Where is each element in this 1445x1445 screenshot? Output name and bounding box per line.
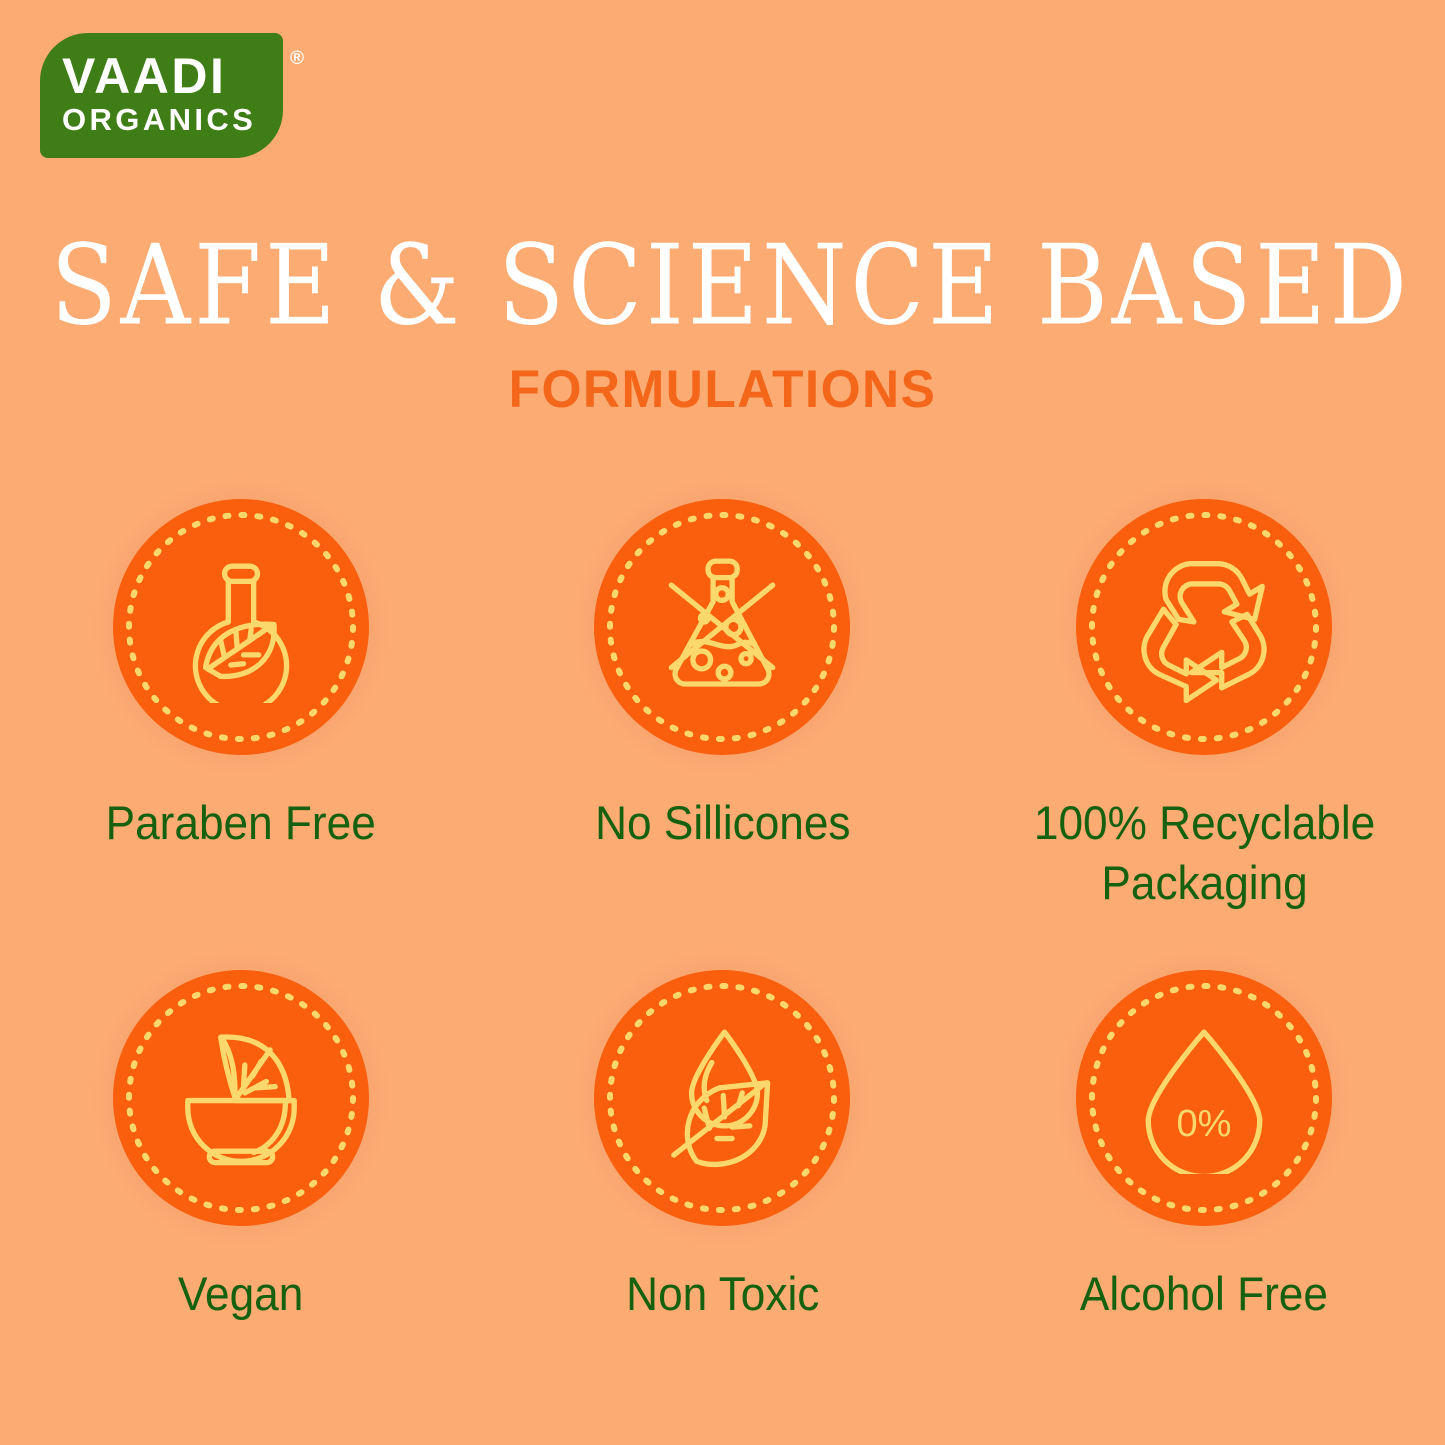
badge-disc [113, 499, 369, 755]
feature-badge-grid: Paraben Free [0, 477, 1445, 1324]
feature-badge-non-toxic: Non Toxic [482, 948, 964, 1324]
feature-badge-paraben-free: Paraben Free [0, 477, 482, 913]
page-subtitle: FORMULATIONS [22, 359, 1424, 420]
header-block: SAFE & SCIENCE BASED FORMULATIONS [0, 228, 1445, 420]
logo-brand-name-text: VAADI [62, 48, 226, 104]
recycle-arrows-icon [1128, 551, 1280, 703]
badge-label: Non Toxic [626, 1264, 819, 1324]
bowl-with-leaf-icon [165, 1022, 317, 1174]
badge-label: No Sillicones [595, 793, 850, 853]
logo-brand-name: VAADI® [62, 52, 283, 101]
droplet-percentage-text: 0% [1177, 1103, 1232, 1145]
feature-badge-vegan: Vegan [0, 948, 482, 1324]
feature-badge-no-sillicones: No Sillicones [482, 477, 964, 913]
badge-disc: 0% [1076, 970, 1332, 1226]
badge-label: Paraben Free [106, 793, 376, 853]
crossed-out-flask-icon [646, 551, 798, 703]
droplet-zero-percent-icon: 0% [1128, 1022, 1280, 1174]
badge-disc [1076, 499, 1332, 755]
badge-halo: 0% [1054, 948, 1354, 1248]
badge-label: Alcohol Free [1080, 1264, 1328, 1324]
badge-disc [113, 970, 369, 1226]
badge-halo [91, 948, 391, 1248]
page-title: SAFE & SCIENCE BASED [51, 228, 1395, 344]
badge-label: 100% Recyclable Packaging [1033, 793, 1374, 913]
badge-halo [1054, 477, 1354, 777]
feature-badge-recyclable-packaging: 100% Recyclable Packaging [963, 477, 1445, 913]
badge-halo [572, 477, 872, 777]
badge-halo [572, 948, 872, 1248]
badge-label: Vegan [178, 1264, 303, 1324]
badge-halo [91, 477, 391, 777]
registered-trademark-icon: ® [290, 50, 304, 69]
logo-tagline: ORGANICS [62, 101, 283, 140]
flask-with-leaf-icon [165, 551, 317, 703]
droplet-with-leaf-icon [646, 1022, 798, 1174]
brand-logo: VAADI® ORGANICS [40, 33, 283, 158]
badge-disc [594, 970, 850, 1226]
feature-badge-alcohol-free: 0% Alcohol Free [963, 948, 1445, 1324]
badge-disc [594, 499, 850, 755]
